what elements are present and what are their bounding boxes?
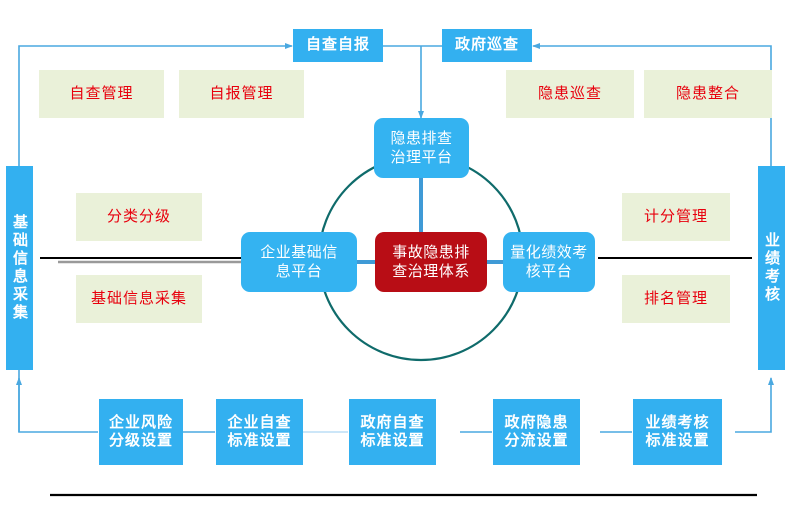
sidebar-performance-assessment-label: 业绩考核 — [764, 232, 779, 304]
node-hazard-patrol[interactable]: 隐患巡查 — [506, 70, 634, 118]
connector-bottom-left-rail — [19, 370, 98, 432]
node-quantitative-performance-platform[interactable]: 量化绩效考 核平台 — [503, 232, 595, 292]
node-accident-hazard-governance-system-label: 事故隐患排 查治理体系 — [392, 243, 470, 282]
node-government-patrol-label: 政府巡查 — [455, 36, 519, 54]
node-enterprise-basic-information-platform-label: 企业基础信 息平台 — [260, 243, 338, 282]
node-hazard-patrol-label: 隐患巡查 — [538, 85, 602, 104]
node-ranking-management[interactable]: 排名管理 — [622, 275, 730, 323]
node-government-hazard-distribution-setting-label: 政府隐患 分流设置 — [504, 414, 568, 451]
node-quantitative-performance-platform-label: 量化绩效考 核平台 — [510, 243, 588, 282]
node-self-inspection-self-report[interactable]: 自查自报 — [293, 29, 383, 62]
node-government-hazard-distribution-setting[interactable]: 政府隐患 分流设置 — [493, 399, 580, 465]
node-enterprise-self-inspection-standard-setting-label: 企业自查 标准设置 — [227, 414, 291, 451]
node-hazard-consolidation-label: 隐患整合 — [676, 85, 740, 104]
node-performance-assessment-standard-setting-label: 业绩考核 标准设置 — [645, 414, 709, 451]
node-enterprise-basic-information-platform[interactable]: 企业基础信 息平台 — [241, 232, 357, 292]
node-ranking-management-label: 排名管理 — [644, 290, 708, 309]
node-self-report-management-label: 自报管理 — [209, 85, 273, 104]
node-basic-information-collection-item-label: 基础信息采集 — [91, 290, 187, 309]
sidebar-basic-information-collection-label: 基础信息采集 — [12, 214, 27, 322]
node-enterprise-self-inspection-standard-setting[interactable]: 企业自查 标准设置 — [216, 399, 303, 465]
node-hazard-investigation-platform[interactable]: 隐患排查 治理平台 — [374, 118, 469, 178]
node-self-inspection-management-label: 自查管理 — [69, 85, 133, 104]
node-classification-grading-label: 分类分级 — [107, 208, 171, 227]
node-accident-hazard-governance-system[interactable]: 事故隐患排 查治理体系 — [375, 232, 487, 292]
connector-bottom-right-rail — [735, 378, 771, 432]
node-hazard-consolidation[interactable]: 隐患整合 — [644, 70, 772, 118]
node-performance-assessment-standard-setting[interactable]: 业绩考核 标准设置 — [633, 399, 722, 465]
node-self-inspection-management[interactable]: 自查管理 — [39, 70, 164, 118]
node-score-management-label: 计分管理 — [644, 208, 708, 227]
node-government-self-inspection-standard-setting[interactable]: 政府自查 标准设置 — [349, 399, 436, 465]
node-classification-grading[interactable]: 分类分级 — [76, 193, 202, 241]
node-basic-information-collection-item[interactable]: 基础信息采集 — [76, 275, 202, 323]
node-enterprise-risk-grading-setting[interactable]: 企业风险 分级设置 — [99, 399, 183, 465]
node-hazard-investigation-platform-label: 隐患排查 治理平台 — [390, 129, 452, 168]
node-self-inspection-self-report-label: 自查自报 — [306, 36, 370, 54]
node-government-patrol[interactable]: 政府巡查 — [442, 29, 532, 62]
node-score-management[interactable]: 计分管理 — [622, 193, 730, 241]
diagram-canvas: 基础信息采集 业绩考核 自查自报 政府巡查 自查管理 自报管理 隐患巡查 隐患整… — [0, 0, 793, 512]
node-government-self-inspection-standard-setting-label: 政府自查 标准设置 — [360, 414, 424, 451]
sidebar-basic-information-collection[interactable]: 基础信息采集 — [6, 166, 33, 370]
sidebar-performance-assessment[interactable]: 业绩考核 — [758, 166, 785, 370]
node-enterprise-risk-grading-setting-label: 企业风险 分级设置 — [109, 414, 173, 451]
node-self-report-management[interactable]: 自报管理 — [179, 70, 304, 118]
